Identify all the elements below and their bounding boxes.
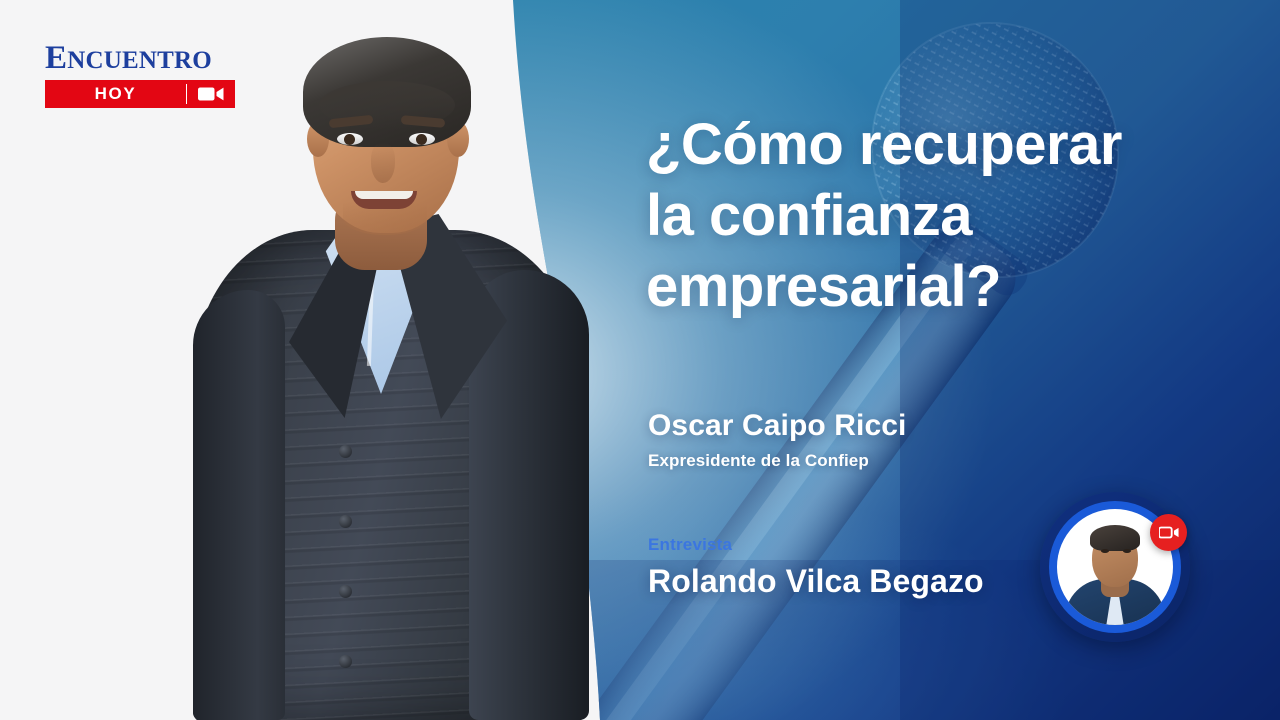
video-camera-icon <box>1150 514 1187 551</box>
logo-tagline: HOY <box>45 80 186 108</box>
jacket-button <box>339 445 352 458</box>
jacket-left-sleeve <box>193 290 285 720</box>
headline-line-3: empresarial? <box>646 252 1246 323</box>
broadcast-promo-card: ENCUENTRO HOY ¿Cómo recuperar la confian… <box>0 0 1280 720</box>
logo-wordmark-initial: E <box>45 40 67 76</box>
encuentro-hoy-logo[interactable]: ENCUENTRO HOY <box>45 42 235 108</box>
portrait-teeth <box>355 191 413 199</box>
avatar-eye <box>1101 549 1109 553</box>
avatar-hair <box>1090 525 1140 551</box>
jacket-button <box>339 515 352 528</box>
jacket-button <box>339 655 352 668</box>
logo-wordmark: ENCUENTRO <box>45 42 235 75</box>
logo-wordmark-rest: NCUENTRO <box>67 47 212 74</box>
page-title: ¿Cómo recuperar la confianza empresarial… <box>646 110 1246 322</box>
guest-portrait-photo <box>175 25 595 720</box>
portrait-eye <box>409 133 435 145</box>
guest-name: Oscar Caipo Ricci <box>648 408 1168 444</box>
video-camera-icon <box>187 80 235 108</box>
host-avatar[interactable] <box>1040 492 1190 642</box>
guest-role: Expresidente de la Confiep <box>648 451 1168 471</box>
jacket-button <box>339 585 352 598</box>
portrait-nose <box>371 143 395 183</box>
headline-line-2: la confianza <box>646 181 1246 252</box>
avatar-eye <box>1123 549 1131 553</box>
portrait-mouth <box>351 191 417 209</box>
portrait-jacket <box>193 230 585 720</box>
guest-info: Oscar Caipo Ricci Expresidente de la Con… <box>648 408 1168 471</box>
portrait-eye <box>337 133 363 145</box>
portrait-hair <box>303 37 471 147</box>
logo-red-bar: HOY <box>45 80 235 108</box>
headline-line-1: ¿Cómo recuperar <box>646 110 1246 181</box>
